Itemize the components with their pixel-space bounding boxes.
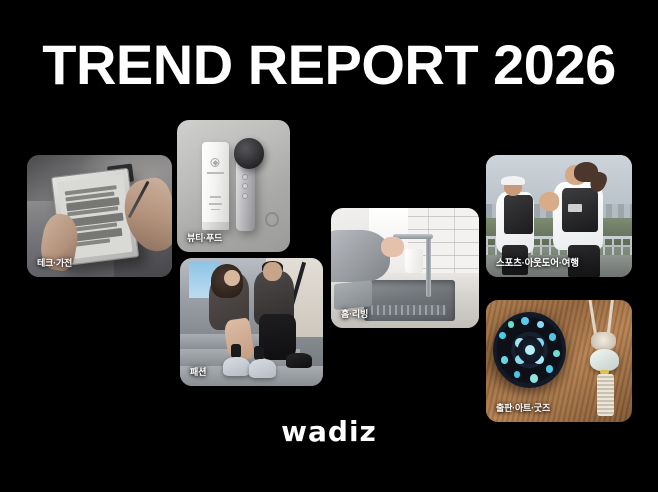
category-label-fashion: 패션 (190, 365, 206, 378)
page-title: TREND REPORT 2026 (0, 34, 658, 96)
category-card-home[interactable]: 홈·리빙 (331, 208, 479, 328)
category-label-art: 출판·아트·굿즈 (496, 401, 550, 414)
category-card-beauty[interactable]: 뷰티·푸드 (177, 120, 290, 252)
category-card-fashion[interactable]: 패션 (180, 258, 323, 386)
category-card-art[interactable]: 출판·아트·굿즈 (486, 300, 632, 422)
wadiz-logo: wadiz (0, 416, 658, 448)
category-card-sports[interactable]: 스포츠·아웃도어·여행 (486, 155, 632, 277)
category-label-sports: 스포츠·아웃도어·여행 (496, 255, 579, 269)
trend-report-poster: TREND REPORT 2026 (0, 0, 658, 492)
category-label-tech: 테크·가전 (37, 256, 72, 269)
category-card-tech[interactable]: 테크·가전 (27, 155, 172, 277)
category-label-home: 홈·리빙 (341, 307, 368, 320)
category-label-beauty: 뷰티·푸드 (187, 231, 222, 244)
